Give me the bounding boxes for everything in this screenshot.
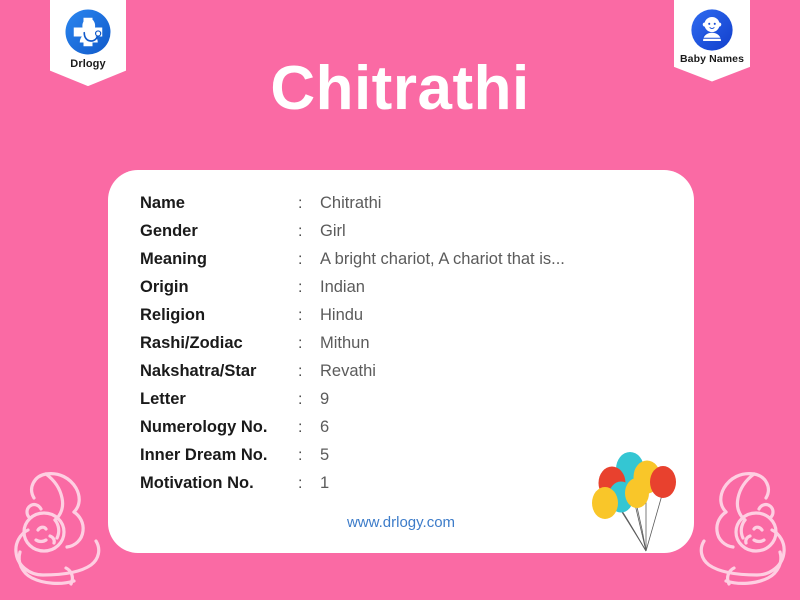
row-separator: : (298, 223, 320, 241)
site-url[interactable]: www.drlogy.com (108, 514, 694, 531)
table-row: Origin : Indian (140, 278, 565, 306)
row-separator: : (298, 251, 320, 269)
row-label: Name (140, 194, 298, 213)
table-row: Name : Chitrathi (140, 194, 565, 222)
row-value: Revathi (320, 362, 376, 381)
balloons-icon (590, 447, 686, 553)
mother-baby-line-art-right (690, 460, 800, 600)
row-label: Religion (140, 306, 298, 325)
table-row: Motivation No. : 1 (140, 474, 565, 502)
table-row: Gender : Girl (140, 222, 565, 250)
row-value: 6 (320, 418, 329, 437)
row-separator: : (298, 195, 320, 213)
row-label: Letter (140, 390, 298, 409)
table-row: Nakshatra/Star : Revathi (140, 362, 565, 390)
table-row: Religion : Hindu (140, 306, 565, 334)
doctor-cross-icon (64, 8, 112, 56)
row-separator: : (298, 279, 320, 297)
name-details-table: Name : Chitrathi Gender : Girl Meaning :… (140, 194, 565, 502)
row-label: Motivation No. (140, 474, 298, 493)
row-value: 1 (320, 474, 329, 493)
table-row: Meaning : A bright chariot, A chariot th… (140, 250, 565, 278)
mother-baby-line-art-left (0, 460, 110, 600)
row-separator: : (298, 447, 320, 465)
row-label: Numerology No. (140, 418, 298, 437)
row-value: Girl (320, 222, 346, 241)
name-details-card: Name : Chitrathi Gender : Girl Meaning :… (108, 170, 694, 553)
row-label: Inner Dream No. (140, 446, 298, 465)
row-value: Chitrathi (320, 194, 381, 213)
baby-icon (690, 8, 734, 52)
row-value: Indian (320, 278, 365, 297)
table-row: Rashi/Zodiac : Mithun (140, 334, 565, 362)
row-label: Gender (140, 222, 298, 241)
row-label: Meaning (140, 250, 298, 269)
row-label: Nakshatra/Star (140, 362, 298, 381)
row-value: Mithun (320, 334, 370, 353)
row-value: Hindu (320, 306, 363, 325)
row-value: A bright chariot, A chariot that is... (320, 250, 565, 269)
row-label: Origin (140, 278, 298, 297)
row-separator: : (298, 419, 320, 437)
row-label: Rashi/Zodiac (140, 334, 298, 353)
table-row: Letter : 9 (140, 390, 565, 418)
row-separator: : (298, 335, 320, 353)
table-row: Numerology No. : 6 (140, 418, 565, 446)
row-value: 9 (320, 390, 329, 409)
row-separator: : (298, 363, 320, 381)
row-separator: : (298, 307, 320, 325)
page-title: Chitrathi (0, 58, 800, 120)
row-separator: : (298, 391, 320, 409)
table-row: Inner Dream No. : 5 (140, 446, 565, 474)
row-separator: : (298, 475, 320, 493)
row-value: 5 (320, 446, 329, 465)
